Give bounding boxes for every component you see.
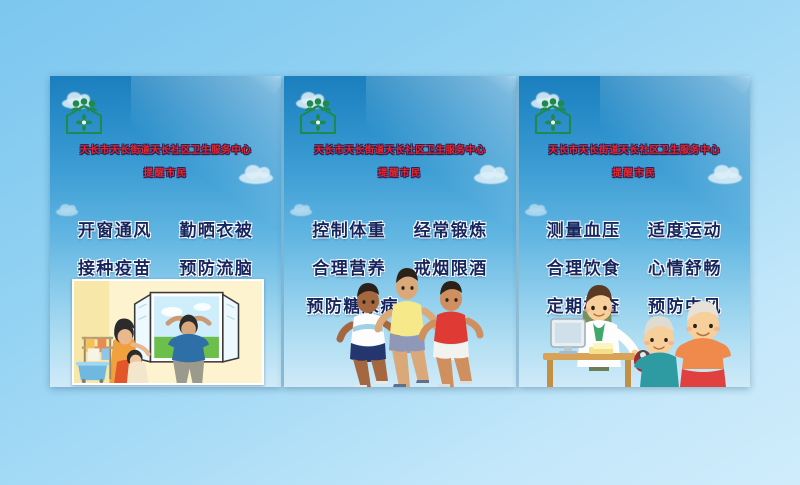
slogan-row: 合理饮食 心情舒畅 [519, 254, 750, 279]
title-subtitle: 提醒市民 [519, 165, 750, 179]
poster-panel-2: 天长市天长街道天长社区卫生服务中心 提醒市民 控制体重 经常锻炼 合理营养 戒烟… [284, 76, 515, 387]
cloud-decoration [290, 208, 312, 216]
slogan-left: 开窗通风 [78, 221, 152, 240]
cloud-decoration [56, 208, 78, 216]
organization-title: 天长市天长街道天长社区卫生服务中心 [519, 142, 750, 156]
slogan-row: 接种疫苗 预防流脑 [50, 254, 281, 279]
community-health-house-logo-icon [63, 96, 105, 136]
panel-title-block: 天长市天长街道天长社区卫生服务中心 提醒市民 [519, 142, 750, 179]
panel-title-block: 天长市天长街道天长社区卫生服务中心 提醒市民 [50, 142, 281, 179]
title-subtitle: 提醒市民 [284, 165, 515, 179]
slogan-row: 测量血压 适度运动 [519, 216, 750, 241]
slogan-right: 经常锻炼 [414, 221, 488, 240]
organization-title: 天长市天长街道天长社区卫生服务中心 [284, 142, 515, 156]
cloud-decoration [525, 208, 547, 216]
family-opening-window-illustration [72, 279, 264, 385]
community-health-house-logo-icon [532, 96, 574, 136]
slogan-right: 预防流脑 [179, 259, 253, 278]
slogan-left: 测量血压 [547, 221, 621, 240]
poster-board: 天长市天长街道天长社区卫生服务中心 提醒市民 开窗通风 勤晒衣被 接种疫苗 预防… [50, 76, 750, 387]
slogan-left: 合理饮食 [547, 259, 621, 278]
poster-panel-1: 天长市天长街道天长社区卫生服务中心 提醒市民 开窗通风 勤晒衣被 接种疫苗 预防… [50, 76, 281, 387]
community-health-house-logo-icon [297, 96, 339, 136]
slogan-row: 控制体重 经常锻炼 [284, 216, 515, 241]
slogan-right: 适度运动 [648, 221, 722, 240]
poster-panel-3: 天长市天长街道天长社区卫生服务中心 提醒市民 测量血压 适度运动 合理饮食 心情… [519, 76, 750, 387]
slogan-right: 心情舒畅 [648, 259, 722, 278]
panel-title-block: 天长市天长街道天长社区卫生服务中心 提醒市民 [284, 142, 515, 179]
slogan-row: 开窗通风 勤晒衣被 [50, 216, 281, 241]
slogan-left: 接种疫苗 [78, 259, 152, 278]
slogan-left: 控制体重 [312, 221, 386, 240]
organization-title: 天长市天长街道天长社区卫生服务中心 [50, 142, 281, 156]
three-runners-illustration [322, 255, 497, 387]
doctor-measuring-blood-pressure-illustration [537, 277, 747, 387]
slogan-right: 勤晒衣被 [179, 221, 253, 240]
title-subtitle: 提醒市民 [50, 165, 281, 179]
